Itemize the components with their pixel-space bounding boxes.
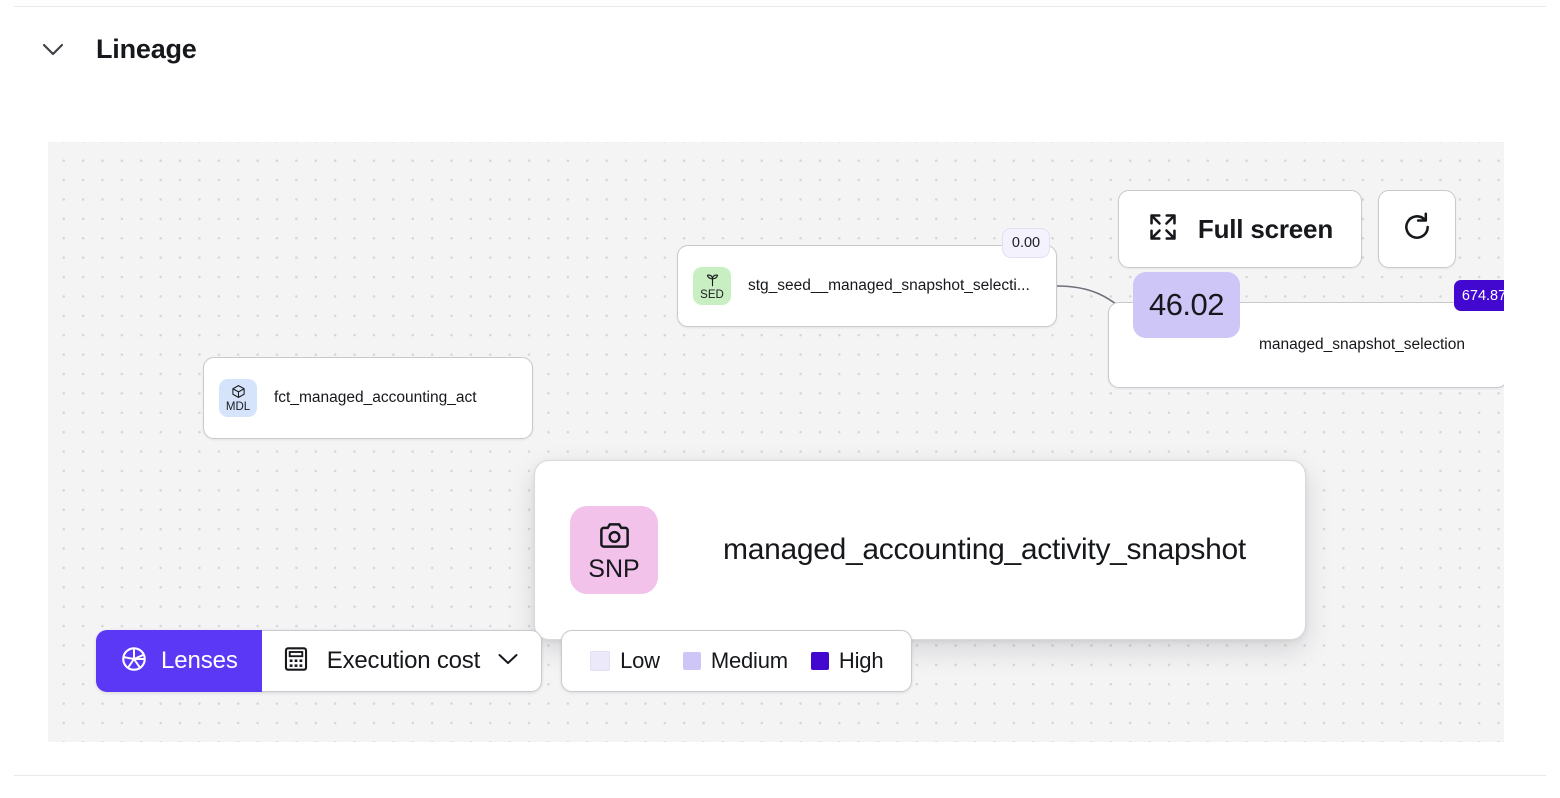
node-label: stg_seed__managed_snapshot_selecti... bbox=[748, 277, 1030, 295]
cost-chip-high[interactable]: 674.87 bbox=[1454, 280, 1504, 311]
full-screen-label: Full screen bbox=[1198, 214, 1333, 245]
lenses-label: Lenses bbox=[161, 647, 238, 675]
node-label: managed_snapshot_selection bbox=[1259, 336, 1465, 354]
expand-arrows-icon bbox=[1147, 211, 1179, 248]
cost-chip-low[interactable]: 0.00 bbox=[1002, 228, 1050, 258]
chevron-down-icon[interactable] bbox=[40, 37, 66, 63]
canvas-toolbar: Full screen bbox=[1118, 190, 1456, 268]
lens-selector-group: Lenses Execution cost bbox=[96, 630, 542, 692]
cube-icon bbox=[231, 383, 246, 400]
node-type-abbr: MDL bbox=[226, 401, 250, 413]
node-type-abbr: SED bbox=[700, 289, 724, 301]
chevron-down-icon bbox=[497, 652, 519, 671]
aperture-icon bbox=[120, 645, 148, 678]
node-type-badge-snp: SNP bbox=[570, 506, 658, 594]
graph-node-seed[interactable]: SED stg_seed__managed_snapshot_selecti..… bbox=[677, 245, 1057, 327]
graph-node-model[interactable]: MDL fct_managed_accounting_act bbox=[203, 357, 533, 439]
legend-item-medium: Medium bbox=[683, 648, 788, 674]
top-divider bbox=[14, 6, 1546, 7]
node-label: fct_managed_accounting_act bbox=[274, 389, 477, 407]
refresh-button[interactable] bbox=[1378, 190, 1456, 268]
lens-controls: Lenses Execution cost bbox=[96, 630, 912, 692]
seedling-icon bbox=[705, 271, 720, 288]
lens-select-value: Execution cost bbox=[327, 647, 480, 675]
page-title: Lineage bbox=[96, 36, 197, 63]
node-type-badge-sed: SED bbox=[693, 267, 731, 305]
full-screen-button[interactable]: Full screen bbox=[1118, 190, 1362, 268]
legend-label-medium: Medium bbox=[711, 648, 788, 674]
legend-label-low: Low bbox=[620, 648, 660, 674]
cost-legend: Low Medium High bbox=[561, 630, 912, 692]
node-hover-card-title: managed_accounting_activity_snapshot bbox=[723, 533, 1246, 567]
lineage-graph-canvas[interactable]: SED stg_seed__managed_snapshot_selecti..… bbox=[48, 142, 1504, 742]
lineage-section-header: Lineage bbox=[40, 36, 197, 63]
legend-swatch-low bbox=[590, 651, 610, 671]
calculator-icon bbox=[282, 645, 310, 678]
node-type-badge-mdl: MDL bbox=[219, 379, 257, 417]
camera-icon bbox=[597, 517, 632, 553]
legend-label-high: High bbox=[839, 648, 883, 674]
node-type-abbr: SNP bbox=[588, 555, 639, 583]
legend-swatch-medium bbox=[683, 652, 701, 670]
lens-select[interactable]: Execution cost bbox=[262, 630, 542, 692]
refresh-icon bbox=[1401, 211, 1433, 248]
node-hover-card[interactable]: SNP managed_accounting_activity_snapshot bbox=[534, 460, 1306, 640]
bottom-divider bbox=[14, 775, 1546, 776]
legend-swatch-high bbox=[811, 652, 829, 670]
legend-item-high: High bbox=[811, 648, 883, 674]
cost-chip-selected[interactable]: 46.02 bbox=[1133, 272, 1240, 338]
lenses-button[interactable]: Lenses bbox=[96, 630, 262, 692]
legend-item-low: Low bbox=[590, 648, 660, 674]
